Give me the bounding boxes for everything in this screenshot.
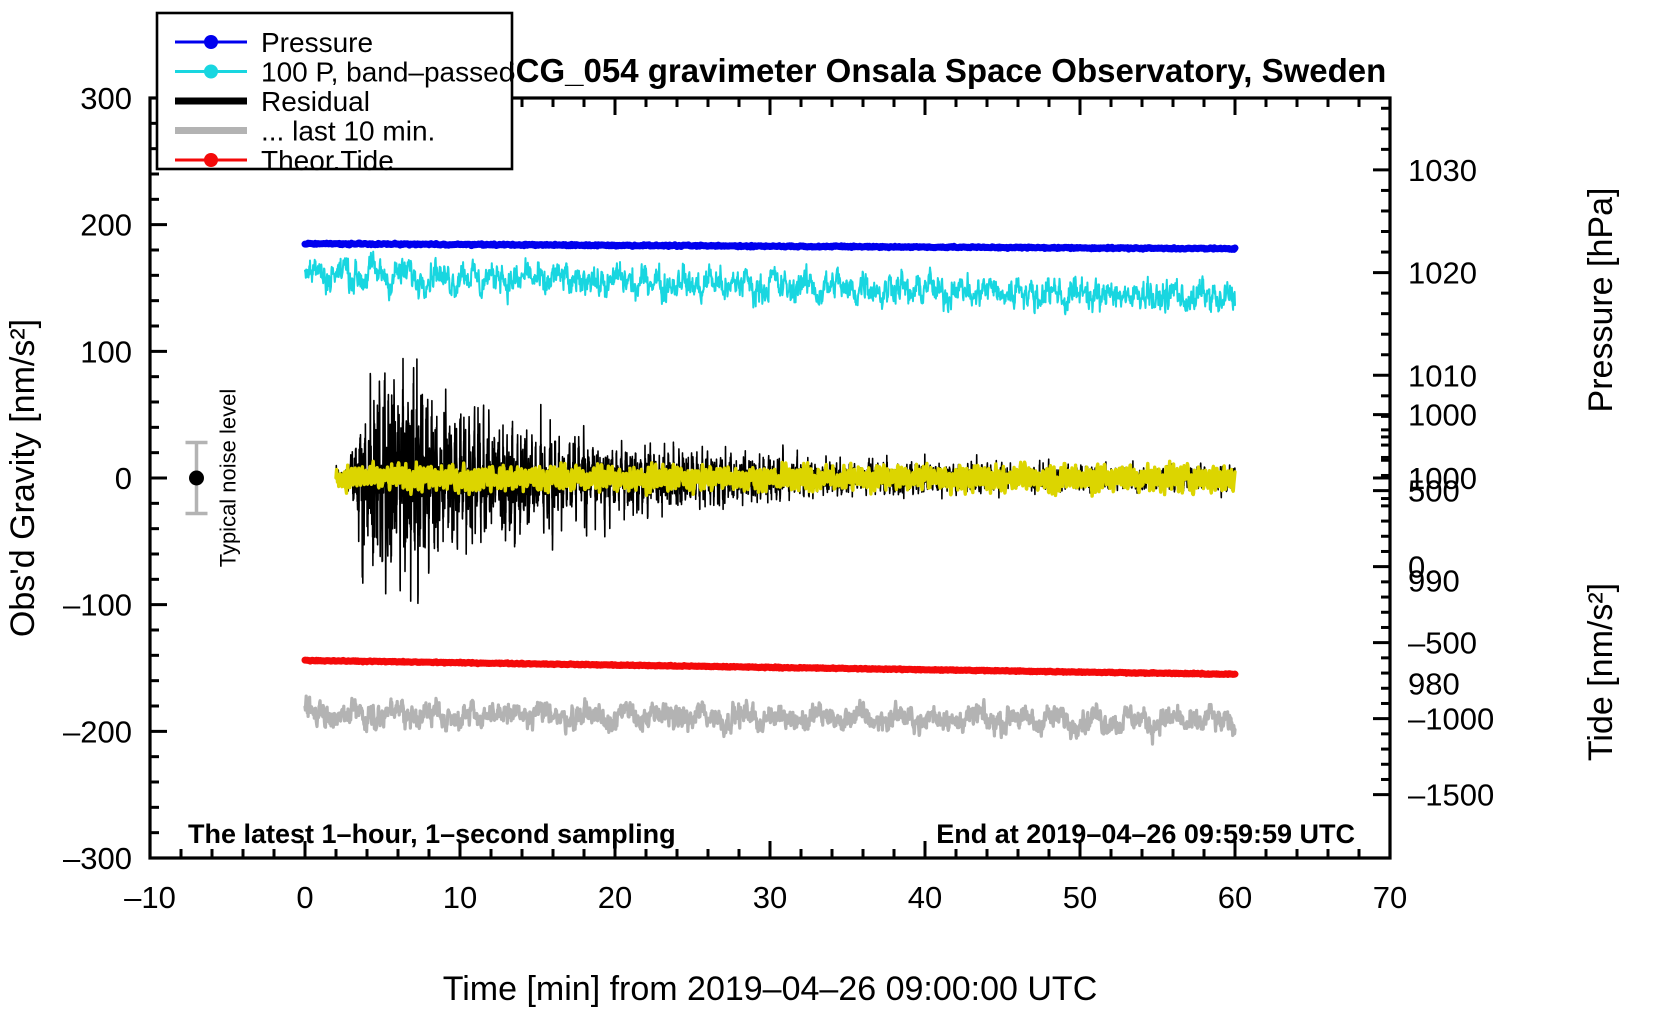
noise-marker-dot [189, 471, 204, 486]
x-tick-label-8: 70 [1373, 880, 1407, 915]
chart-canvas: –10010203040506070Time [min] from 2019–0… [0, 0, 1660, 1020]
y-tick-label-1: –200 [63, 714, 132, 749]
pressure-axis-title: Pressure [hPa] [1582, 188, 1620, 413]
legend-label: 100 P, band–passed [261, 57, 514, 88]
pressure-tick-label-0: 980 [1408, 666, 1460, 701]
legend-marker-dot [204, 65, 218, 79]
legend-label: Pressure [261, 27, 373, 58]
tide-tick-label-4: 500 [1408, 474, 1460, 509]
tide-tick-label-0: –1500 [1408, 778, 1494, 813]
legend-marker-dot [204, 153, 218, 167]
pressure-tick-label-4: 1020 [1408, 256, 1477, 291]
legend-label: ... last 10 min. [261, 116, 435, 147]
y-tick-label-5: 200 [80, 208, 132, 243]
y-tick-label-2: –100 [63, 588, 132, 623]
x-tick-label-6: 50 [1063, 880, 1097, 915]
x-tick-label-0: –10 [124, 880, 176, 915]
tide-tick-label-5: 1000 [1408, 398, 1477, 433]
noise-marker-label: Typical noise level [216, 389, 241, 568]
y-axis-title: Obs'd Gravity [nm/s²] [4, 319, 42, 637]
series-pressure [305, 243, 1235, 249]
x-tick-label-2: 10 [443, 880, 477, 915]
chart-title: SCG_054 gravimeter Onsala Space Observat… [494, 52, 1387, 89]
x-tick-label-4: 30 [753, 880, 787, 915]
tide-tick-label-3: 0 [1408, 550, 1425, 585]
x-axis-title: Time [min] from 2019–04–26 09:00:00 UTC [443, 970, 1098, 1008]
legend-marker-dot [204, 35, 218, 49]
legend-label: Theor.Tide [261, 145, 394, 176]
y-tick-label-0: –300 [63, 841, 132, 876]
x-tick-label-5: 40 [908, 880, 942, 915]
x-tick-label-7: 60 [1218, 880, 1252, 915]
tide-axis-title: Tide [nm/s²] [1582, 583, 1620, 761]
series-100-p-band-passed [305, 252, 1235, 315]
y-tick-label-6: 300 [80, 81, 132, 116]
series-theor-tide [305, 660, 1235, 674]
annotation-bottom-right: End at 2019–04–26 09:59:59 UTC [936, 819, 1355, 849]
annotation-bottom-left: The latest 1–hour, 1–second sampling [188, 819, 676, 849]
legend-label: Residual [261, 86, 370, 117]
tide-tick-label-2: –500 [1408, 626, 1477, 661]
pressure-tick-label-5: 1030 [1408, 153, 1477, 188]
tide-tick-label-1: –1000 [1408, 702, 1494, 737]
x-tick-label-3: 20 [598, 880, 632, 915]
x-tick-label-1: 0 [296, 880, 313, 915]
y-tick-label-3: 0 [115, 461, 132, 496]
y-tick-label-4: 100 [80, 334, 132, 369]
gravimeter-chart: –10010203040506070Time [min] from 2019–0… [0, 0, 1660, 1020]
pressure-tick-label-3: 1010 [1408, 358, 1477, 393]
series--last-10-min- [305, 696, 1235, 744]
